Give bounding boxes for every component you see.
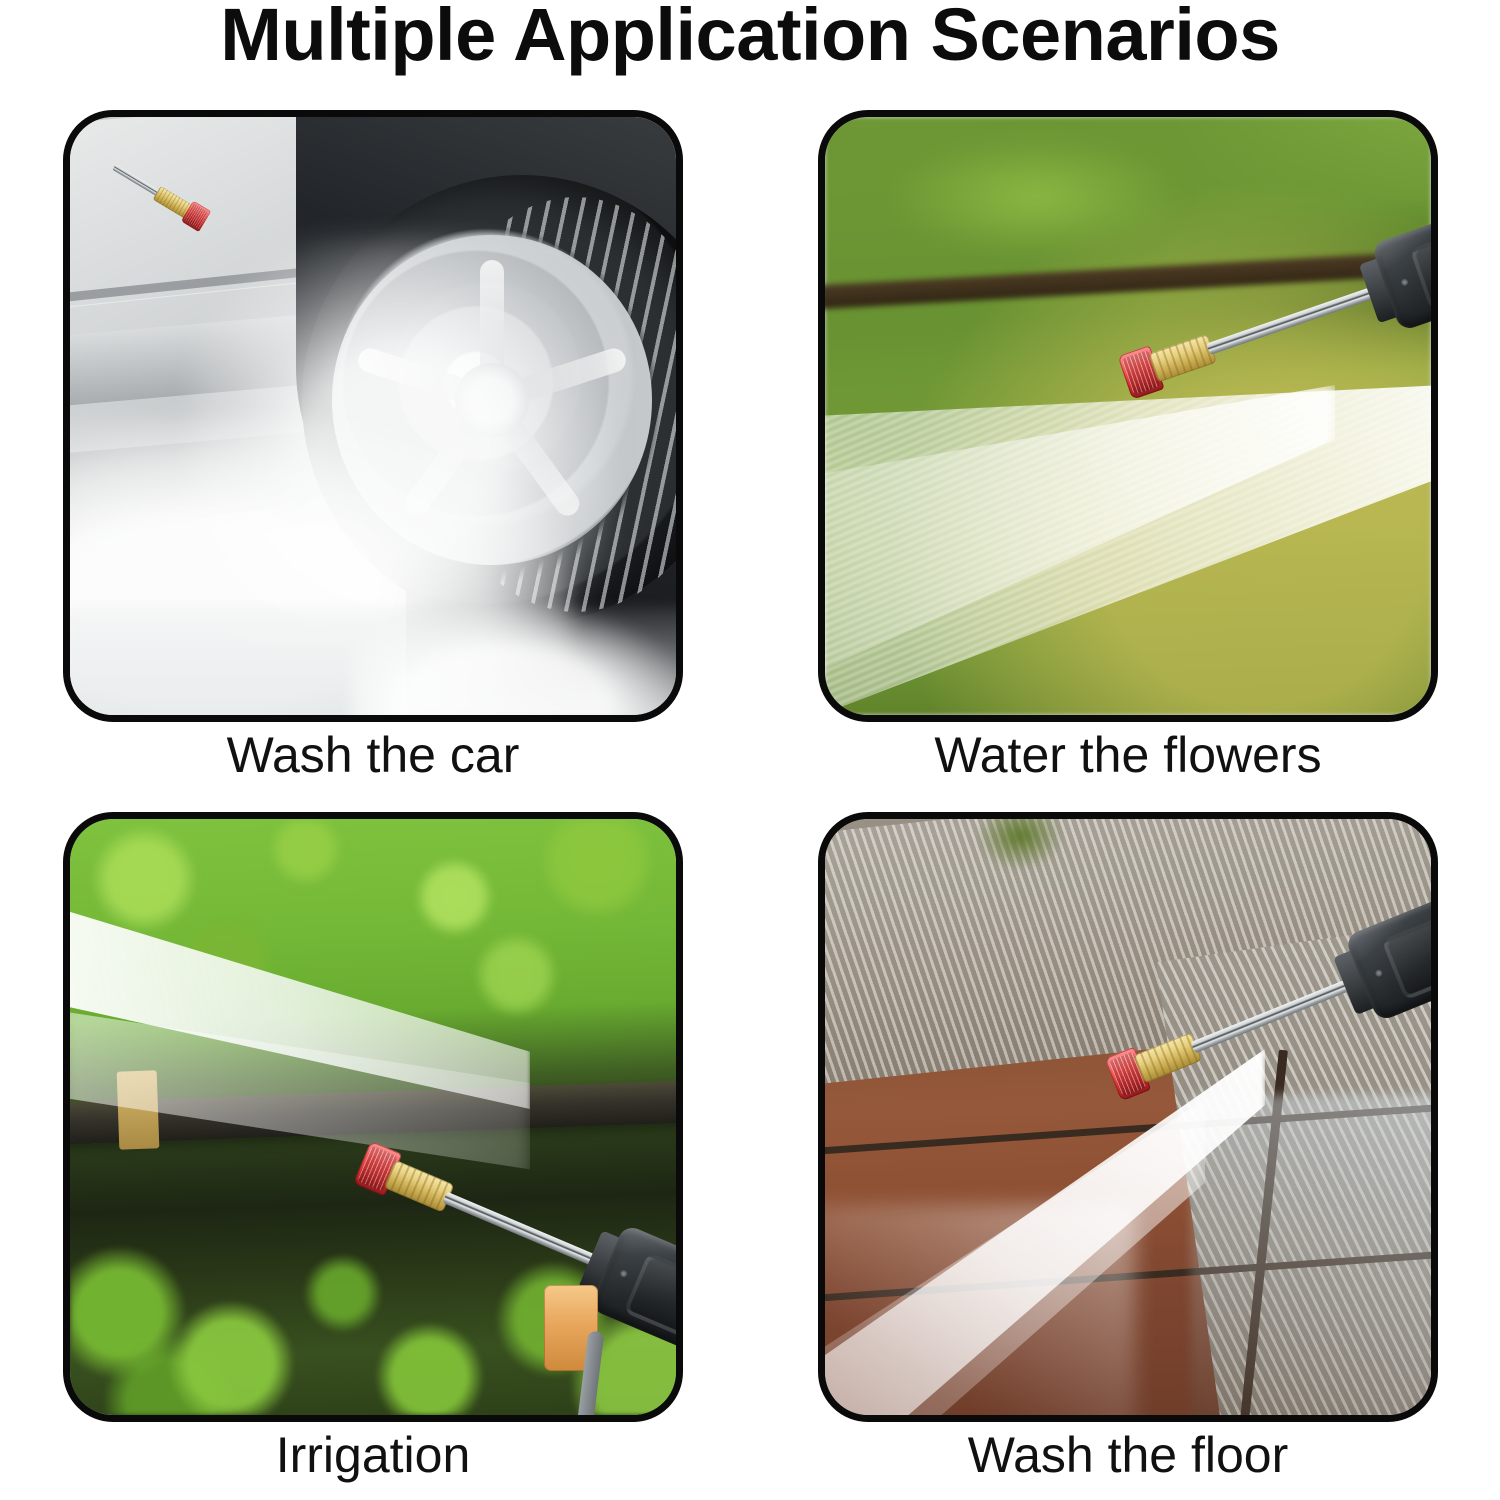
caption-water-the-flowers: Water the flowers (818, 726, 1438, 784)
caption-irrigation: Irrigation (63, 1426, 683, 1484)
scenario-card-irrigation[interactable]: Irrigation (63, 812, 683, 1422)
scenario-card-wash-the-floor[interactable]: Wash the floor (818, 812, 1438, 1422)
page-title: Multiple Application Scenarios (0, 0, 1500, 72)
scenario-card-water-the-flowers[interactable]: Water the flowers (818, 110, 1438, 722)
lance (443, 1192, 602, 1269)
cleaned-stripe (825, 1205, 1135, 1415)
scene-water-the-flowers (825, 117, 1431, 715)
lance (1206, 285, 1380, 355)
lance (1190, 979, 1352, 1054)
brass-fitting (1148, 334, 1216, 383)
brass-fitting (1133, 1032, 1202, 1083)
lawn-highlight (885, 137, 1185, 257)
scenario-card-wash-the-car[interactable]: Wash the car (63, 110, 683, 722)
caption-wash-the-floor: Wash the floor (818, 1426, 1438, 1484)
caption-wash-the-car: Wash the car (63, 726, 683, 784)
scene-wash-the-car (70, 117, 676, 715)
moss-patch (975, 819, 1065, 871)
photo-water-the-flowers (818, 110, 1438, 722)
hose-connector-assembly (544, 1271, 614, 1361)
scenario-grid: Wash the car (63, 110, 1437, 1420)
photo-irrigation (63, 812, 683, 1422)
photo-wash-the-floor (818, 812, 1438, 1422)
photo-wash-the-car (63, 110, 683, 722)
scene-wash-the-floor (825, 819, 1431, 1415)
scene-irrigation (70, 819, 676, 1415)
wet-paver-area (1191, 1095, 1431, 1415)
brass-fitting (384, 1160, 455, 1213)
water-splash (350, 605, 676, 715)
infographic-page: Multiple Application Scenarios (0, 0, 1500, 1500)
